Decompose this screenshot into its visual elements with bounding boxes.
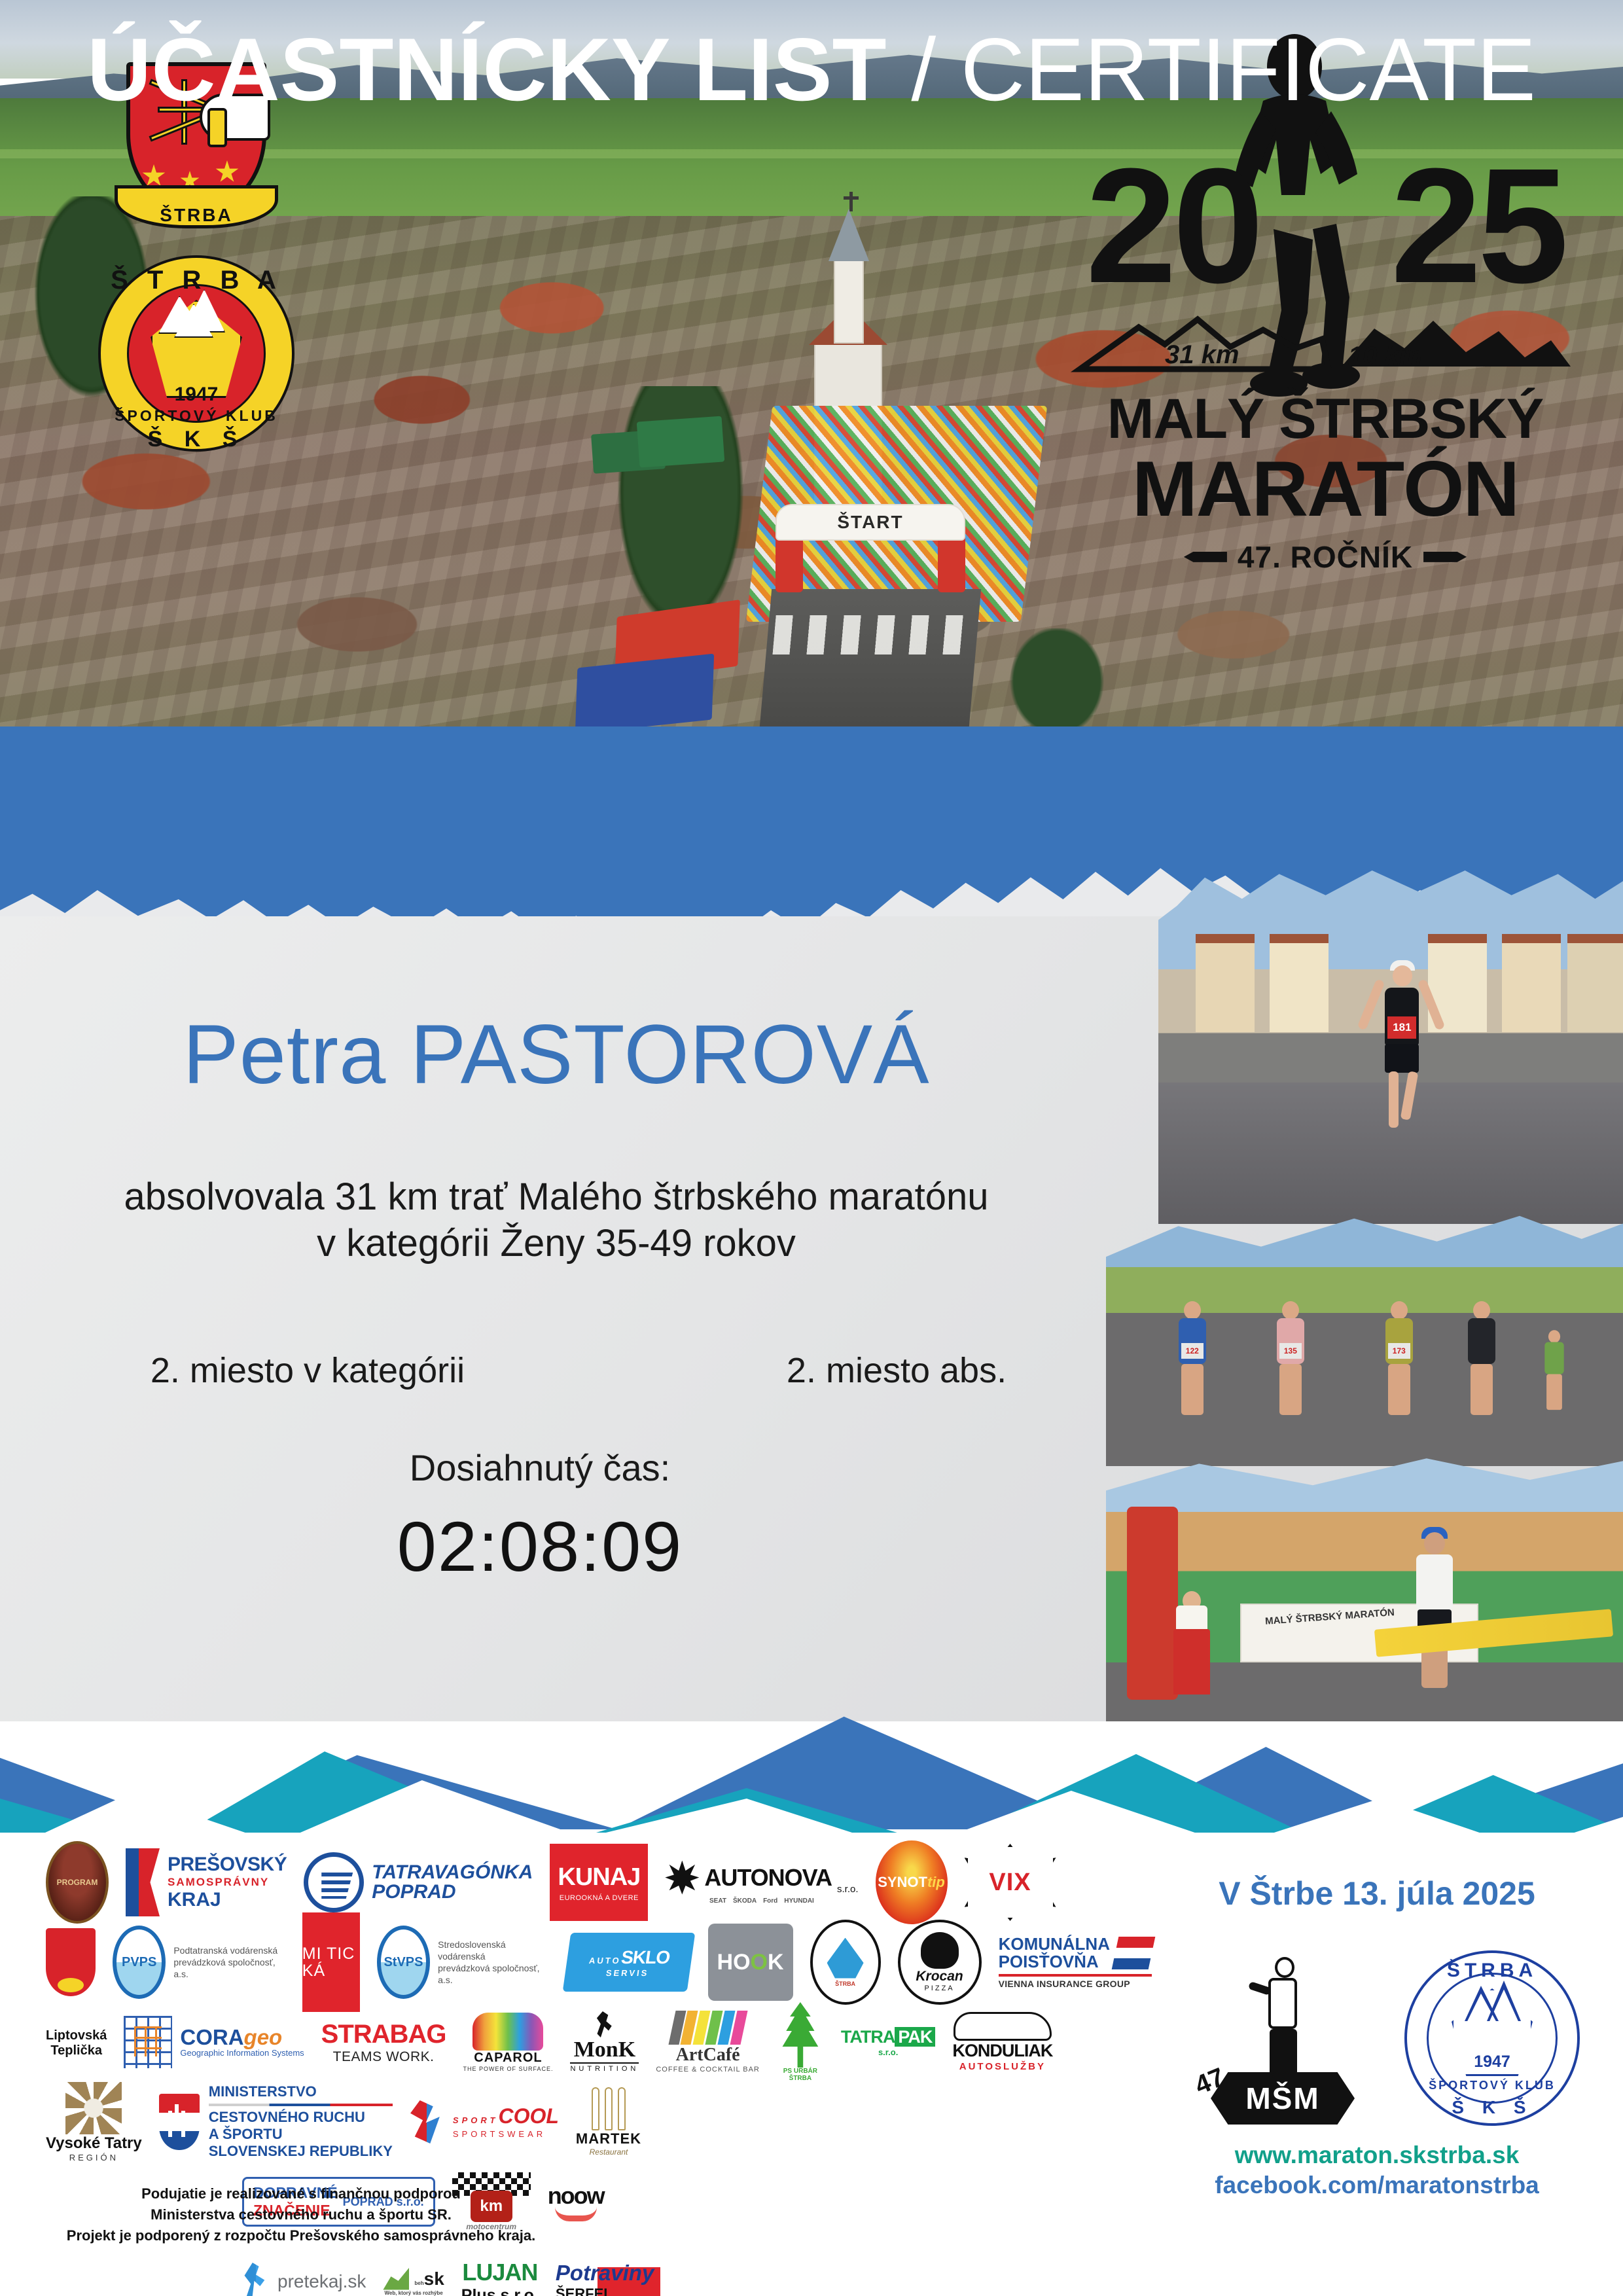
runner-figure-icon bbox=[595, 2011, 615, 2037]
badge-year: 1947 bbox=[98, 384, 294, 406]
sponsor-label2: PAK bbox=[895, 2027, 935, 2047]
sponsor-miticka[interactable]: MI TIC KÁ bbox=[302, 1926, 360, 1998]
sponsor-footer: PROGRAM PREŠOVSKÝ SAMOSPRÁVNY KRAJ bbox=[0, 1833, 1623, 2296]
race-road bbox=[760, 589, 981, 726]
edelweiss-icon bbox=[65, 2082, 122, 2134]
sponsor-label: SPORT bbox=[453, 2115, 499, 2125]
event-title-line1: MALÝ ŠTRBSKÝ bbox=[1067, 393, 1584, 446]
turkey-icon bbox=[921, 1932, 959, 1969]
start-arch: ŠTART bbox=[776, 504, 965, 592]
sponsor-row: pretekaj.sk behsk Web, ktorý vás rozhýbe bbox=[46, 2242, 1152, 2296]
sponsor-sublabel: SERVIS bbox=[605, 1968, 650, 1978]
sponsor-potraviny-serfel[interactable]: Potraviny ŠERFEL bbox=[556, 2246, 654, 2296]
sponsor-sublabel: THE POWER OF SURFACE. bbox=[463, 2066, 553, 2072]
footer-right-column: V Štrbe 13. júla 2025 47. MŠM ŠTRBA 1947… bbox=[1168, 1846, 1586, 2212]
sponsor-sublabel: SPORTSWEAR bbox=[453, 2129, 546, 2139]
smile-icon bbox=[555, 2207, 597, 2221]
sponsor-lujan-plus[interactable]: LUJAN Plus s.r.o. bbox=[461, 2246, 539, 2296]
photo-finish-line: MALÝ ŠTRBSKÝ MARATÓN bbox=[1106, 1453, 1623, 1721]
sponsor-sublabel: s.r.o. bbox=[837, 1884, 859, 1895]
sponsor-vix[interactable]: VIX bbox=[965, 1846, 1056, 1918]
sponsor-label: AUTO bbox=[588, 1956, 622, 1965]
sponsor-sublabel: Web, ktorý vás rozhýbe bbox=[384, 2290, 442, 2296]
sponsor-row: Liptovská Teplička CORAgeo Geographic In… bbox=[46, 2002, 1152, 2082]
runner-bib-number: 181 bbox=[1387, 1016, 1416, 1039]
sponsor-sportcool[interactable]: SPORTCOOL SPORTSWEAR bbox=[410, 2086, 559, 2158]
sponsor-artcafe[interactable]: ArtCafé COFFEE & COCKTAIL BAR bbox=[656, 2006, 760, 2078]
achievement-line-2: v kategórii Ženy 35-49 rokov bbox=[0, 1221, 1113, 1265]
participant-name: Petra PASTOROVÁ bbox=[0, 1007, 1113, 1103]
certificate-banner-title: ÚČASTNÍCKY LIST / CERTIFICATE bbox=[0, 25, 1623, 114]
sponsor-sublabel: Stredoslovenská vodárenská bbox=[438, 1939, 549, 1962]
sponsor-label: KUNAJ bbox=[558, 1863, 640, 1892]
sponsor-monk-nutrition[interactable]: MonK NUTRITION bbox=[570, 2006, 639, 2078]
stamp-abbr: Š K Š bbox=[1404, 2097, 1580, 2118]
sponsor-sublabel: tip bbox=[927, 1874, 945, 1891]
sponsor-label: MonK bbox=[574, 2037, 635, 2062]
sponsor-label: PROGRAM bbox=[57, 1878, 98, 1887]
sponsor-label: noow bbox=[548, 2182, 604, 2210]
distance-row: 31 km 10 km bbox=[1067, 301, 1584, 386]
sponsor-tatrapak[interactable]: TATRAPAK s.r.o. bbox=[841, 2006, 936, 2078]
cutlery-icon bbox=[582, 2087, 635, 2130]
sponsor-synottip[interactable]: SYNOTtip bbox=[876, 1846, 948, 1918]
sponsor-sublabel: prevádzková spoločnosť, a.s. bbox=[438, 1962, 549, 1986]
sponsor-label: TATRAVAGÓNKA bbox=[372, 1863, 533, 1882]
sponsor-vysoke-tatry[interactable]: Vysoké Tatry REGIÓN bbox=[46, 2086, 142, 2158]
stamp-top-label: ŠTRBA bbox=[1404, 1960, 1580, 1982]
sponsor-noow[interactable]: noow bbox=[548, 2166, 604, 2238]
car-icon bbox=[954, 2012, 1052, 2041]
tree-icon bbox=[1001, 628, 1113, 726]
brand-skoda: ŠKODA bbox=[733, 1897, 757, 1905]
sponsor-sublabel: PIZZA bbox=[924, 1984, 954, 1992]
burst-icon bbox=[665, 1861, 699, 1895]
sponsor-autonova[interactable]: AUTONOVA s.r.o. SEAT ŠKODA Ford HYUNDAI bbox=[665, 1846, 858, 1918]
grid-icon bbox=[124, 2016, 172, 2068]
badge-club-label: ŠPORTOVÝ KLUB bbox=[98, 407, 294, 425]
sponsor-village-shield[interactable] bbox=[46, 1926, 96, 1998]
stamp-club-label: ŠPORTOVÝ KLUB bbox=[1404, 2079, 1580, 2092]
funding-note-line-1: Podujatie je realizované s finančnou pod… bbox=[52, 2183, 550, 2204]
sponsor-caparol[interactable]: CAPAROL THE POWER OF SURFACE. bbox=[463, 2006, 553, 2078]
sponsor-corageo[interactable]: CORAgeo Geographic Information Systems bbox=[124, 2006, 304, 2078]
badge-top-label: Š T R B A bbox=[98, 266, 294, 295]
photo-road-runners: 122 135 173 bbox=[1106, 1211, 1623, 1466]
sponsor-label: STRABAG bbox=[321, 2020, 446, 2049]
brand-ford: Ford bbox=[763, 1897, 777, 1905]
sponsor-label: MI TIC KÁ bbox=[302, 1912, 360, 2012]
funding-note-line-2: Ministerstva cestovného ruchu a športu S… bbox=[52, 2204, 550, 2225]
brand-hyundai: HYUNDAI bbox=[784, 1897, 814, 1905]
sponsor-sublabel: SAMOSPRÁVNY bbox=[168, 1876, 287, 1889]
tatravagonka-icon bbox=[304, 1852, 364, 1912]
website-link[interactable]: www.maraton.skstrba.sk bbox=[1168, 2142, 1586, 2169]
sponsor-label2: COOL bbox=[498, 2104, 558, 2128]
category-placement: 2. miesto v kategórii bbox=[105, 1350, 510, 1391]
sponsor-label4: SLOVENSKEJ REPUBLIKY bbox=[209, 2143, 393, 2160]
sponsor-label: AUTONOVA bbox=[704, 1864, 832, 1892]
swoosh-icon bbox=[410, 2100, 446, 2144]
finisher-runner: 181 bbox=[1363, 948, 1441, 1145]
sponsor-sublabel: COFFEE & COCKTAIL BAR bbox=[656, 2066, 760, 2073]
sponsor-sublabel: NUTRITION bbox=[570, 2062, 639, 2073]
sponsor-sublabel: REGIÓN bbox=[69, 2153, 118, 2162]
sponsor-label: SYNOT bbox=[878, 1874, 927, 1891]
sponsor-label3: A ŠPORTU bbox=[209, 2126, 393, 2143]
elephant-icon bbox=[473, 2013, 543, 2051]
sksk-stamp: ŠTRBA 1947 ŠPORTOVÝ KLUB Š K Š bbox=[1404, 1950, 1580, 2126]
sponsor-label2: O bbox=[751, 1950, 768, 1975]
sponsor-row: PROGRAM PREŠOVSKÝ SAMOSPRÁVNY KRAJ bbox=[46, 1842, 1152, 1922]
badge-abbr: Š K Š bbox=[98, 427, 294, 452]
banner-title-sk: ÚČASTNÍCKY LIST bbox=[87, 20, 887, 119]
cross-icon bbox=[849, 192, 853, 211]
mountain-outline-icon bbox=[1067, 301, 1584, 386]
sponsor-label2: sk bbox=[424, 2269, 444, 2289]
runner-icon bbox=[242, 2263, 271, 2296]
water-drop-icon bbox=[827, 1938, 864, 1979]
sponsor-komunalna-poistovna[interactable]: KOMUNÁLNA POISŤOVŇA VIENNA INSURANCE GRO… bbox=[999, 1926, 1152, 1998]
start-arch-label: ŠTART bbox=[776, 512, 965, 533]
sponsor-label: KONDULIAK bbox=[952, 2041, 1052, 2061]
achievement-line-1: absolvovala 31 km trať Malého štrbského … bbox=[0, 1175, 1113, 1219]
event-title-line2: MARATÓN bbox=[1067, 452, 1584, 526]
finish-time-value: 02:08:09 bbox=[131, 1505, 949, 1587]
sponsor-label: CAPAROL bbox=[474, 2051, 542, 2066]
sponsor-pd-strba[interactable]: ŠTRBA bbox=[810, 1926, 881, 1998]
sponsor-label2: POISŤOVŇA bbox=[999, 1953, 1110, 1971]
sponsor-martek[interactable]: MARTEK Restaurant bbox=[576, 2086, 641, 2158]
sponsor-label2: Teplička bbox=[46, 2043, 107, 2058]
sponsor-sublabel: Podtatranská vodárenská bbox=[173, 1945, 285, 1956]
presov-mark-icon bbox=[126, 1848, 160, 1916]
sponsor-label: KOMUNÁLNA bbox=[999, 1935, 1110, 1953]
shield-icon bbox=[46, 1928, 96, 1996]
certificate-page: ŠTART ŠTRBA Š T R B A 1947 ŠPORTOVÝ KLUB… bbox=[0, 0, 1623, 2296]
sponsor-row: PVPS Podtatranská vodárenská prevádzková… bbox=[46, 1922, 1152, 2002]
sponsor-sublabel: POPRAD bbox=[372, 1882, 533, 1902]
sponsor-label: PREŠOVSKÝ bbox=[168, 1854, 287, 1876]
facebook-link[interactable]: facebook.com/maratonstrba bbox=[1168, 2172, 1586, 2199]
sponsor-label: Krocan bbox=[916, 1969, 963, 1984]
year-right: 25 bbox=[1391, 144, 1565, 308]
sponsor-label: PS URBÁR bbox=[783, 2068, 817, 2075]
sponsor-kunaj[interactable]: KUNAJ EUROOKNÁ A DVERE bbox=[550, 1846, 648, 1918]
sponsor-sublabel: Restaurant bbox=[590, 2147, 628, 2157]
event-date: V Štrbe 13. júla 2025 bbox=[1168, 1874, 1586, 1912]
sponsor-ps-urbar-strba[interactable]: PS URBÁR ŠTRBA bbox=[777, 2006, 824, 2078]
crest-label: ŠTRBA bbox=[115, 205, 278, 226]
absolute-placement: 2. miesto abs. bbox=[713, 1350, 1080, 1391]
sponsor-label: Potraviny bbox=[556, 2261, 654, 2286]
event-edition: 47. ROČNÍK bbox=[1067, 537, 1584, 575]
sponsor-strabag[interactable]: STRABAG TEAMS WORK. bbox=[321, 2006, 446, 2078]
flag-icon bbox=[1112, 1937, 1156, 1969]
msm-abbr: MŠM bbox=[1211, 2072, 1355, 2125]
sponsor-label: VIX bbox=[989, 1869, 1031, 1897]
sponsor-label: HO bbox=[717, 1950, 751, 1975]
arrow-right-icon bbox=[1423, 552, 1467, 562]
sponsor-label: Liptovská bbox=[46, 2028, 107, 2043]
finish-time-label: Dosiahnutý čas: bbox=[131, 1446, 949, 1489]
sponsor-sublabel: s.r.o. bbox=[878, 2047, 898, 2057]
sponsor-autosklo[interactable]: AUTOSKLO SERVIS bbox=[567, 1926, 691, 1998]
banner-title-en: / CERTIFICATE bbox=[887, 20, 1536, 119]
sponsor-label: ŠTRBA bbox=[835, 1981, 855, 1987]
sponsor-hook[interactable]: HOOK bbox=[708, 1926, 793, 1998]
stamp-year: 1947 bbox=[1404, 2053, 1580, 2072]
sponsor-label: PVPS bbox=[122, 1955, 156, 1970]
distance-31km: 31 km bbox=[1165, 340, 1239, 370]
event-year: 2025 bbox=[1067, 144, 1584, 308]
folk-costume-girl bbox=[1168, 1592, 1214, 1697]
sponsor-sublabel: AUTOSLUŽBY bbox=[959, 2061, 1046, 2072]
sponsor-label: ArtCafé bbox=[676, 2045, 740, 2066]
sponsor-row: Vysoké Tatry REGIÓN MINISTERSTVO CESTOVN… bbox=[46, 2082, 1152, 2162]
sponsor-label: LUJAN bbox=[462, 2259, 537, 2286]
sponsor-pvps[interactable]: PVPS Podtatranská vodárenská prevádzková… bbox=[113, 1926, 285, 1998]
sponsor-sublabel: KRAJ bbox=[168, 1889, 287, 1911]
sponsor-beh-sk[interactable]: behsk Web, ktorý vás rozhýbe bbox=[383, 2246, 444, 2296]
swoosh-icon bbox=[383, 2268, 409, 2290]
sponsor-stvps[interactable]: StVPS Stredoslovenská vodárenská prevádz… bbox=[377, 1926, 550, 1998]
sponsor-tatravagonka[interactable]: TATRAVAGÓNKA POPRAD bbox=[304, 1846, 533, 1918]
sponsor-label: pretekaj.sk bbox=[277, 2271, 366, 2292]
sponsor-label: CORA bbox=[180, 2025, 243, 2049]
winner-runner bbox=[1395, 1528, 1474, 1692]
color-bars-icon bbox=[672, 2011, 744, 2045]
sponsor-label: MARTEK bbox=[576, 2130, 641, 2147]
sponsor-label: MINISTERSTVO bbox=[209, 2083, 393, 2100]
fir-tree-icon bbox=[777, 2002, 824, 2068]
runner-icon bbox=[1246, 1956, 1318, 2084]
sponsor-sublabel: EUROOKNÁ A DVERE bbox=[560, 1894, 639, 1902]
event-logo: 2025 31 km 10 km MALÝ ŠTRBSKÝ MARATÓN 47… bbox=[1067, 39, 1584, 596]
photo-collage: 181 122 135 173 MALÝ ŠTRBSKÝ MARATÓN bbox=[1106, 870, 1623, 1721]
race-banner-text: MALÝ ŠTRBSKÝ MARATÓN bbox=[1265, 1607, 1395, 1628]
sponsor-sublabel: VIENNA INSURANCE GROUP bbox=[999, 1979, 1130, 1989]
sponsor-program-trencin[interactable]: PROGRAM bbox=[46, 1846, 109, 1918]
sponsor-sublabel: Geographic Information Systems bbox=[180, 2048, 304, 2058]
sponsor-label2: CESTOVNÉHO RUCHU bbox=[209, 2109, 393, 2126]
edition-label: 47. ROČNÍK bbox=[1238, 539, 1413, 575]
sponsor-pretekaj-sk[interactable]: pretekaj.sk bbox=[242, 2246, 366, 2296]
msm-stamp: 47. MŠM bbox=[1199, 1956, 1363, 2131]
sponsor-logo-grid: PROGRAM PREŠOVSKÝ SAMOSPRÁVNY KRAJ bbox=[46, 1842, 1152, 2209]
sponsor-sublabel: ŠERFEL bbox=[556, 2286, 613, 2296]
sport-club-badge: Š T R B A 1947 ŠPORTOVÝ KLUB Š K Š bbox=[98, 255, 294, 452]
sponsor-sublabel: Plus s.r.o. bbox=[461, 2286, 539, 2296]
sponsor-label: beh bbox=[414, 2280, 423, 2286]
distance-10km: 10 km bbox=[1348, 342, 1422, 371]
sponsor-sublabel: TEAMS WORK. bbox=[333, 2049, 435, 2065]
sponsor-label: StVPS bbox=[383, 1955, 423, 1970]
sponsor-liptovska-teplicka[interactable]: Liptovská Teplička bbox=[46, 2006, 107, 2078]
arrow-left-icon bbox=[1184, 552, 1227, 562]
sponsor-label: Vysoké Tatry bbox=[46, 2134, 142, 2153]
brand-seat: SEAT bbox=[709, 1897, 726, 1905]
year-left: 20 bbox=[1086, 144, 1260, 308]
slovak-crest-icon bbox=[159, 2094, 200, 2150]
funding-note: Podujatie je realizované s finančnou pod… bbox=[52, 2183, 550, 2246]
tent-green bbox=[637, 416, 725, 468]
sponsor-ministerstvo[interactable]: MINISTERSTVO CESTOVNÉHO RUCHU A ŠPORTU S… bbox=[159, 2086, 393, 2158]
photo-finisher: 181 bbox=[1158, 870, 1623, 1224]
funding-note-line-3: Projekt je podporený z rozpočtu Prešovsk… bbox=[52, 2225, 550, 2246]
sponsor-presovsky-kraj[interactable]: PREŠOVSKÝ SAMOSPRÁVNY KRAJ bbox=[126, 1846, 287, 1918]
sponsor-konduliak[interactable]: KONDULIAK AUTOSLUŽBY bbox=[952, 2006, 1052, 2078]
sponsor-label2: ŠTRBA bbox=[789, 2075, 811, 2082]
sponsor-label3: K bbox=[768, 1950, 784, 1975]
sponsor-sublabel: prevádzková spoločnosť, a.s. bbox=[173, 1956, 285, 1980]
sponsor-label2: geo bbox=[244, 2025, 283, 2049]
sponsor-label2: SKLO bbox=[620, 1947, 671, 1967]
sponsor-label: TATRA bbox=[841, 2027, 895, 2047]
sponsor-krocan-pizza[interactable]: Krocan PIZZA bbox=[898, 1926, 982, 1998]
car-brand-row: SEAT ŠKODA Ford HYUNDAI bbox=[709, 1897, 814, 1905]
